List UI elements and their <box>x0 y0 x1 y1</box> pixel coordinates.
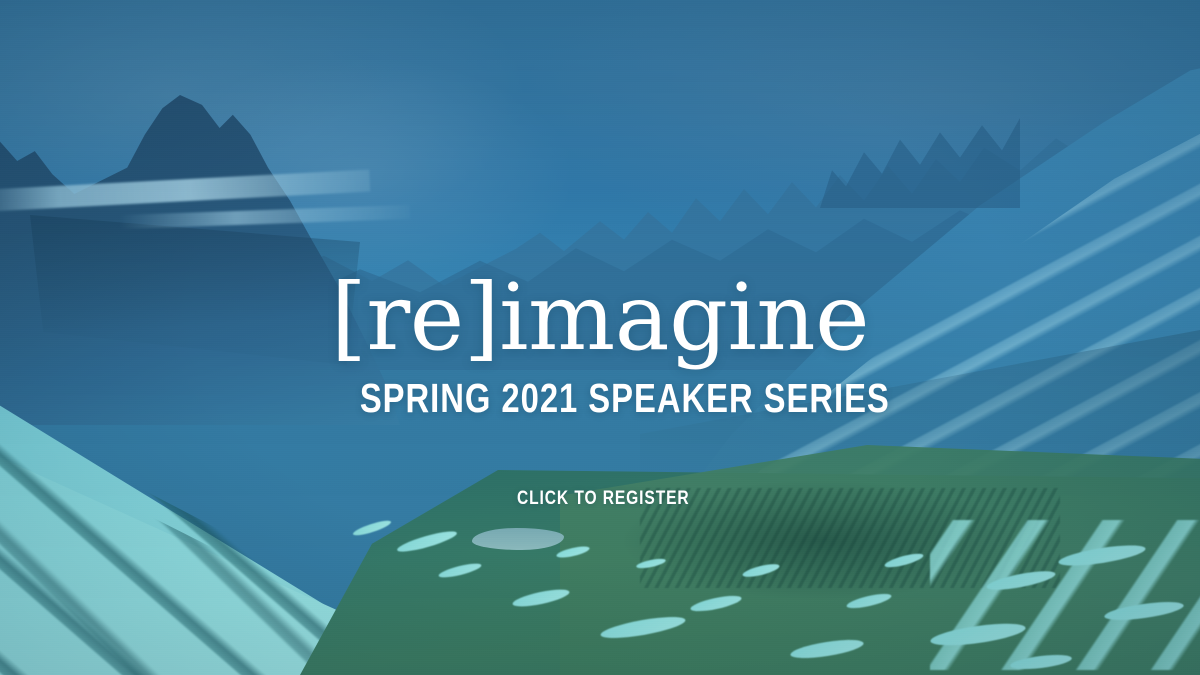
headline-reimagine: [re]imagine <box>0 272 1200 364</box>
text-overlay: [re]imagine SPRING 2021 SPEAKER SERIES C… <box>0 0 1200 675</box>
click-to-register-cta[interactable]: CLICK TO REGISTER <box>108 489 1092 508</box>
subheadline-spring-2021-speaker-series: SPRING 2021 SPEAKER SERIES <box>120 378 1080 419</box>
title-slide[interactable]: [re]imagine SPRING 2021 SPEAKER SERIES C… <box>0 0 1200 675</box>
